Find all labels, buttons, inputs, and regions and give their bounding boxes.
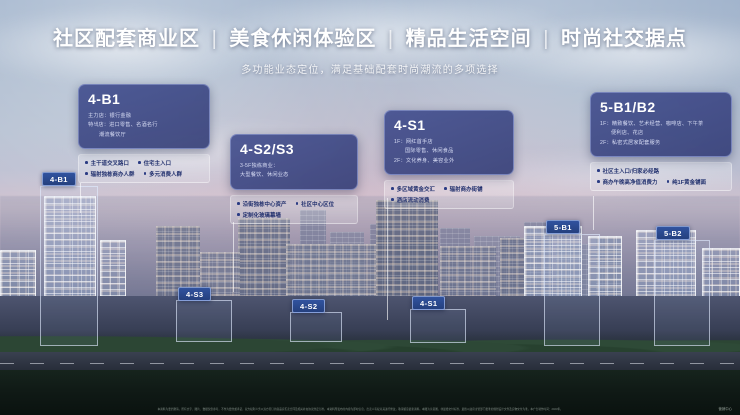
callout-tag: 社区主入口/归家必经路 — [597, 167, 659, 175]
bullet-dot-icon — [85, 172, 88, 175]
callout-tag-label: 辐射商办街铺 — [450, 185, 483, 193]
bullet-dot-icon — [144, 172, 147, 175]
midground-tower — [238, 218, 290, 308]
callout-tag-label: 社区中心区位 — [301, 200, 334, 208]
bullet-dot-icon — [85, 161, 88, 164]
title-separator: | — [383, 28, 399, 50]
callout-4-s1[interactable]: 4-S1 1F：网红首手店 国际零售、休闲食品 2F：文化养身、美容业外 多区域… — [384, 110, 514, 209]
building-outline-4-s1 — [410, 309, 466, 343]
callout-tag-label: 住宅主入口 — [144, 159, 171, 167]
callout-tag-label: 定制化玻璃幕墙 — [243, 211, 281, 219]
callout-card: 4-S2/S3 3-5F独栋商业： 大型餐饮、休闲业态 — [230, 134, 358, 190]
callout-tag-label: 多元消费人群 — [149, 170, 182, 178]
callout-tag: 沿街独栋中心资产 — [237, 200, 287, 208]
bullet-dot-icon — [597, 180, 600, 183]
callout-tag: 商办午晚高净值消费力 — [597, 178, 658, 186]
building-label-5-b2[interactable]: 5-B2 — [656, 226, 690, 240]
callout-tag-label: 酒店流动消费 — [397, 196, 430, 204]
callout-card: 4-S1 1F：网红首手店 国际零售、休闲食品 2F：文化养身、美容业外 — [384, 110, 514, 175]
bullet-dot-icon — [444, 187, 447, 190]
callout-tag: 多元消费人群 — [144, 170, 183, 178]
callout-line: 2F：文化养身、美容业外 — [394, 157, 504, 166]
title-part-4: 时尚社交据点 — [561, 28, 687, 50]
callout-line: 大型餐饮、休闲业态 — [240, 171, 348, 180]
legal-disclaimer: 本资料为要约邀请，所有文字、图片、数据仅供参考，不作为要约或承诺，双方权利义务以… — [8, 407, 712, 411]
bullet-dot-icon — [237, 213, 240, 216]
callout-tag: 社区中心区位 — [296, 200, 335, 208]
bullet-dot-icon — [391, 198, 394, 201]
callout-line: 便利店、花店 — [600, 129, 722, 138]
callout-tag: 主干道交叉路口 — [85, 159, 129, 167]
callout-code: 4-S1 — [394, 118, 504, 133]
callout-tag-label: 商办午晚高净值消费力 — [603, 178, 658, 186]
midground-tower — [376, 200, 438, 308]
building-label-4-s1[interactable]: 4-S1 — [412, 296, 445, 310]
callout-description: 主力店：银行金融 特색店：进口零售、名酒名行 潮流餐饮厅 — [88, 112, 200, 139]
callout-tag: 辐射独栋商办人群 — [85, 170, 135, 178]
callout-tag-label: 沿街独栋中心资产 — [243, 200, 287, 208]
callout-line: 国际零售、休闲食品 — [394, 147, 504, 156]
callout-line: 潮流餐饮厅 — [88, 131, 200, 140]
callout-4-s2-s3[interactable]: 4-S2/S3 3-5F独栋商业： 大型餐饮、休闲业态 沿街独栋中心资产 社区中… — [230, 134, 358, 224]
leader-line-5-b1 — [593, 196, 594, 230]
callout-tag-label: 辐射独栋商办人群 — [91, 170, 135, 178]
callout-line: 主力店：银行金融 — [88, 112, 200, 121]
callout-card: 4-B1 主力店：银行金融 特색店：进口零售、名酒名行 潮流餐饮厅 — [78, 84, 210, 149]
callout-code: 4-B1 — [88, 92, 200, 107]
callout-tag-label: 纯1F黄金铺面 — [672, 178, 706, 186]
leader-line-4-s3 — [233, 222, 234, 292]
callout-line: 3-5F独栋商业： — [240, 162, 348, 171]
building-outline-5-b2 — [654, 240, 710, 346]
callout-line: 1F：精致餐饮、艺术经营、咖啡店、下午茶 — [600, 120, 722, 129]
building-label-4-s2[interactable]: 4-S2 — [292, 299, 325, 313]
callout-tag-label: 社区主入口/归家必经路 — [603, 167, 660, 175]
header: 社区配套商业区 | 美食休闲体验区 | 精品生活空间 | 时尚社交据点 多功能业… — [0, 0, 740, 76]
page-subtitle: 多功能业态定位，满足基础配套时尚潮流的多项选择 — [0, 61, 740, 76]
callout-5-b1-b2[interactable]: 5-B1/B2 1F：精致餐饮、艺术经营、咖啡店、下午茶 便利店、花店 2F：私… — [590, 92, 732, 191]
callout-tag-list: 沿街独栋中心资产 社区中心区位 定制化玻璃幕墙 — [230, 195, 358, 224]
callout-line: 1F：网红首手店 — [394, 138, 504, 147]
callout-tag: 定制化玻璃幕墙 — [237, 211, 281, 219]
building-outline-4-s2 — [290, 312, 342, 342]
callout-tag-list: 社区主入口/归家必经路 商办午晚高净值消费力 纯1F黄金铺面 — [590, 162, 732, 191]
callout-tag: 住宅主入口 — [138, 159, 171, 167]
callout-4-b1[interactable]: 4-B1 主力店：银行金融 特색店：进口零售、名酒名行 潮流餐饮厅 主干道交叉路… — [78, 84, 210, 183]
building-label-4-b1[interactable]: 4-B1 — [42, 172, 76, 186]
bullet-dot-icon — [391, 187, 394, 190]
footer: 本资料为要约邀请，所有文字、图片、数据仅供参考，不作为要约或承诺，双方权利义务以… — [0, 406, 740, 411]
callout-tag: 多区域黄金交汇 — [391, 185, 435, 193]
callout-tag-label: 多区域黄金交汇 — [397, 185, 435, 193]
bullet-dot-icon — [597, 169, 600, 172]
leader-line-4-s1 — [387, 198, 388, 320]
callout-tag: 辐射商办街铺 — [444, 185, 483, 193]
building-outline-4-b1 — [40, 186, 98, 346]
title-part-1: 社区配套商业区 — [53, 28, 200, 50]
title-part-3: 精品生活空间 — [406, 28, 532, 50]
callout-tag-list: 多区域黄金交汇 辐射商办街铺 酒店流动消费 — [384, 180, 514, 209]
title-part-2: 美食休闲体验区 — [229, 28, 376, 50]
leader-line-4-b1 — [80, 183, 81, 213]
building-outline-5-b1 — [544, 234, 600, 346]
bullet-dot-icon — [138, 161, 141, 164]
callout-tag-label: 主干道交叉路口 — [91, 159, 129, 167]
callout-description: 1F：精致餐饮、艺术经营、咖啡店、下午茶 便利店、花店 2F：私密式居家配套服务 — [600, 120, 722, 147]
bullet-dot-icon — [237, 202, 240, 205]
callout-description: 1F：网红首手店 国际零售、休闲食品 2F：文化养身、美容业外 — [394, 138, 504, 165]
callout-line: 特색店：进口零售、名酒名行 — [88, 121, 200, 130]
callout-tag-list: 主干道交叉路口 住宅主入口 辐射独栋商办人群 多元消费人群 — [78, 154, 210, 183]
callout-card: 5-B1/B2 1F：精致餐饮、艺术经营、咖啡店、下午茶 便利店、花店 2F：私… — [590, 92, 732, 157]
bullet-dot-icon — [667, 180, 670, 183]
page-title: 社区配套商业区 | 美食休闲体验区 | 精品生活空间 | 时尚社交据点 — [0, 22, 740, 51]
callout-tag: 酒店流动消费 — [391, 196, 430, 204]
title-separator: | — [538, 28, 554, 50]
title-separator: | — [207, 28, 223, 50]
building-outline-4-s3 — [176, 300, 232, 342]
callout-code: 5-B1/B2 — [600, 100, 722, 115]
callout-line: 2F：私密式居家配套服务 — [600, 139, 722, 148]
building-label-5-b1[interactable]: 5-B1 — [546, 220, 580, 234]
footer-brand: 营销中心 — [718, 406, 732, 411]
bullet-dot-icon — [296, 202, 299, 205]
callout-description: 3-5F独栋商业： 大型餐饮、休闲业态 — [240, 162, 348, 180]
callout-tag: 纯1F黄金铺面 — [667, 178, 707, 186]
callout-code: 4-S2/S3 — [240, 142, 348, 157]
building-label-4-s3[interactable]: 4-S3 — [178, 287, 211, 301]
